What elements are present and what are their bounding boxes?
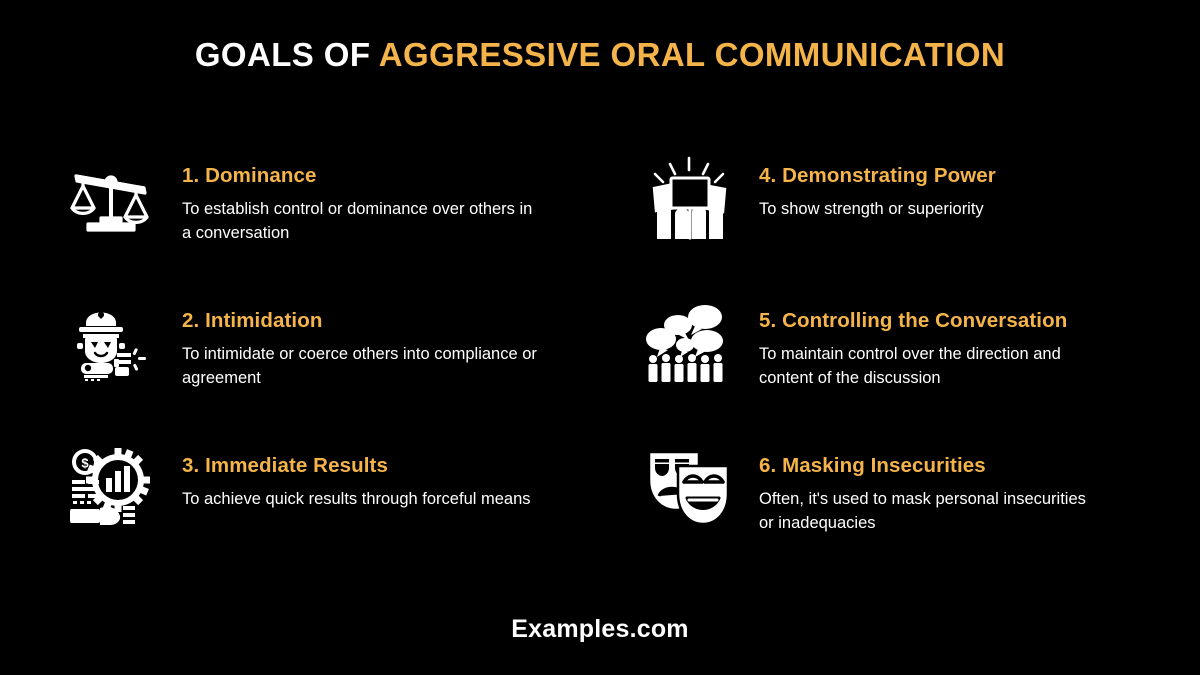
goal-description: To establish control or dominance over o…: [182, 198, 542, 246]
goal-item-immediate-results: $: [62, 440, 639, 585]
goal-item-dominance: 1. Dominance To establish control or dom…: [62, 150, 639, 295]
goals-grid: 1. Dominance To establish control or dom…: [0, 150, 1200, 585]
goal-text-block: 5. Controlling the Conversation To maint…: [759, 295, 1104, 390]
page-title: GOALS OF AGGRESSIVE ORAL COMMUNICATION: [0, 36, 1200, 73]
goal-text-block: 3. Immediate Results To achieve quick re…: [182, 440, 531, 512]
goal-title: 6. Masking Insecurities: [759, 454, 1104, 479]
svg-text:$: $: [81, 456, 89, 471]
brand-footer: Examples.com: [0, 615, 1200, 644]
crowd-speech-bubbles-icon: [639, 295, 739, 387]
goal-description: To maintain control over the direction a…: [759, 343, 1104, 391]
goal-item-intimidation: 2. Intimidation To intimidate or coerce …: [62, 295, 639, 440]
goal-description: To intimidate or coerce others into comp…: [182, 343, 542, 391]
goal-title: 3. Immediate Results: [182, 454, 531, 479]
goal-description: To show strength or superiority: [759, 198, 996, 222]
goal-title: 1. Dominance: [182, 164, 542, 189]
theater-masks-icon: [639, 440, 739, 532]
goal-item-controlling-conversation: 5. Controlling the Conversation To maint…: [639, 295, 1184, 440]
raised-fists-protest-icon: [639, 150, 739, 242]
police-officer-icon: [62, 295, 162, 387]
goal-text-block: 6. Masking Insecurities Often, it's used…: [759, 440, 1104, 535]
goal-text-block: 1. Dominance To establish control or dom…: [182, 150, 542, 245]
goal-title: 4. Demonstrating Power: [759, 164, 996, 189]
page-title-white-part: GOALS OF: [195, 36, 379, 73]
goal-title: 5. Controlling the Conversation: [759, 309, 1104, 334]
balance-scale-icon: [62, 150, 162, 242]
goal-title: 2. Intimidation: [182, 309, 542, 334]
goal-text-block: 2. Intimidation To intimidate or coerce …: [182, 295, 542, 390]
gear-chart-money-icon: $: [62, 440, 162, 532]
page-title-accent-part: AGGRESSIVE ORAL COMMUNICATION: [379, 36, 1005, 73]
goal-item-demonstrating-power: 4. Demonstrating Power To show strength …: [639, 150, 1184, 295]
goal-description: To achieve quick results through forcefu…: [182, 488, 531, 512]
goal-text-block: 4. Demonstrating Power To show strength …: [759, 150, 996, 222]
goal-item-masking-insecurities: 6. Masking Insecurities Often, it's used…: [639, 440, 1184, 585]
goal-description: Often, it's used to mask personal insecu…: [759, 488, 1104, 536]
